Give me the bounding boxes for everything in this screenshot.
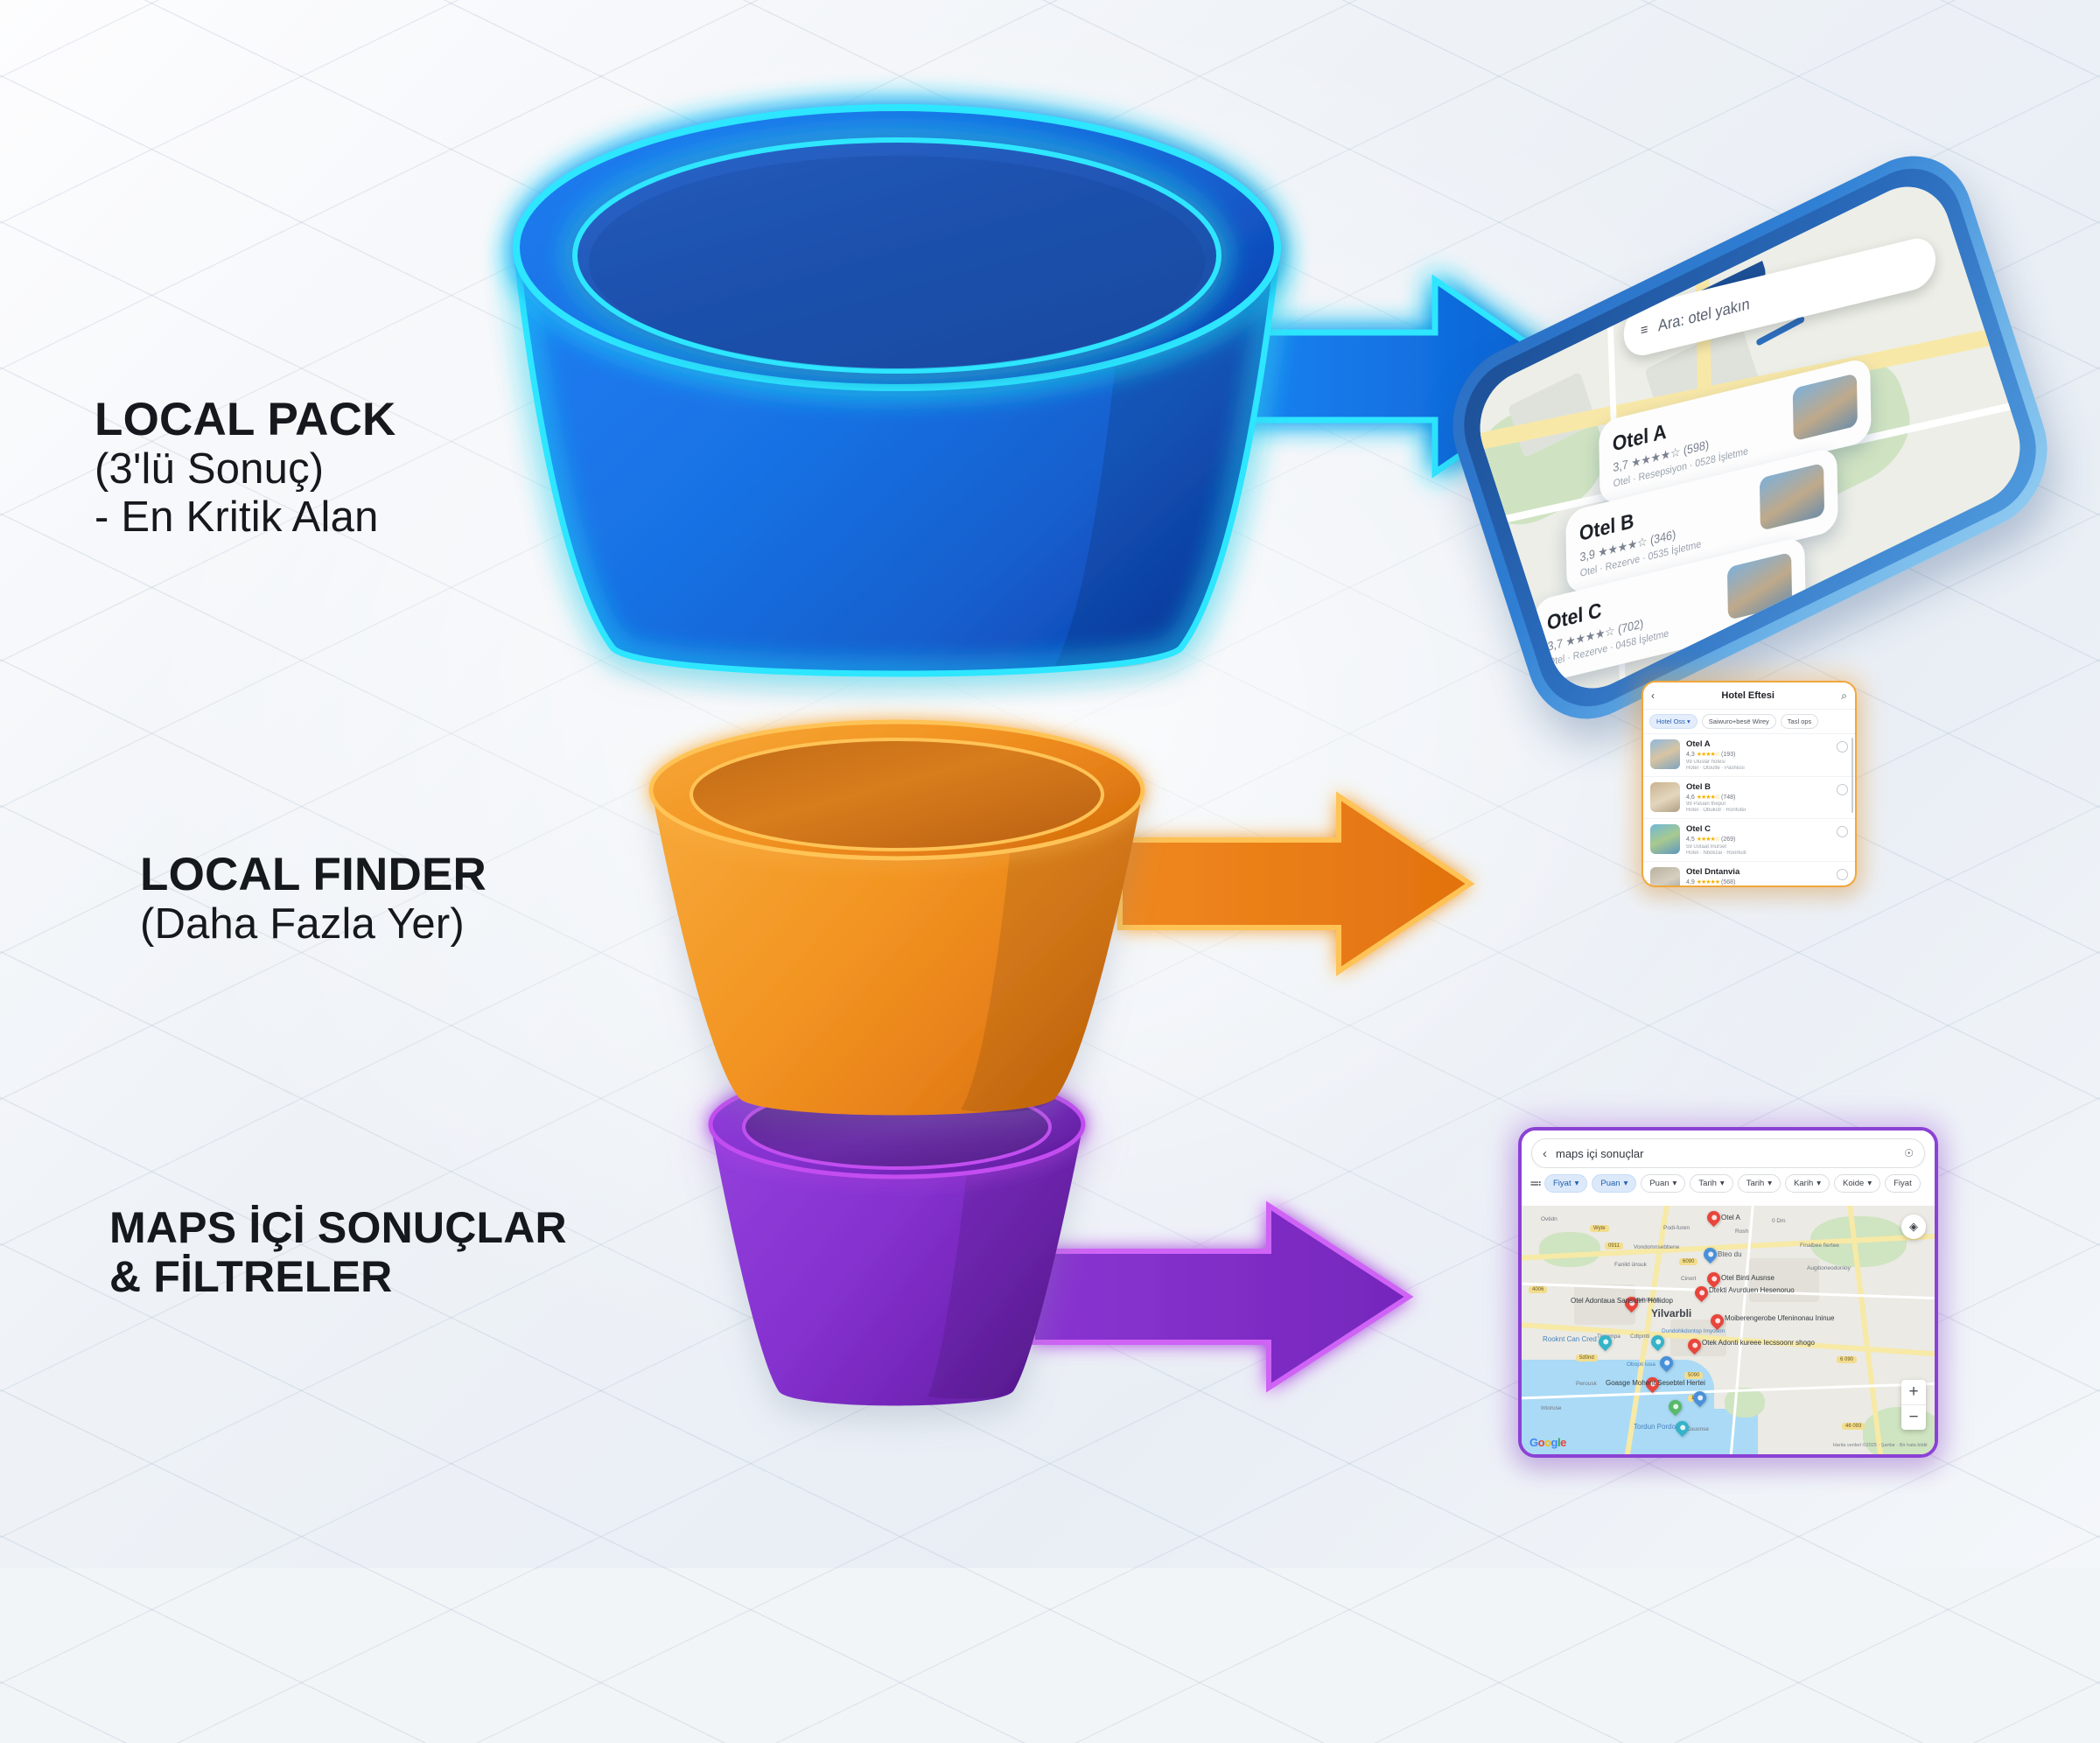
finder-item-text: Otel B 4,6 ★★★★☆ (748) 99 Pasian theput … — [1686, 782, 1830, 814]
finder-item-sub: 99 Obekte Himtei — [1686, 886, 1830, 887]
map-area-label: Intoruse — [1541, 1405, 1562, 1411]
label-local-pack-line1: LOCAL PACK — [94, 394, 396, 445]
maps-chip-0[interactable]: Fiyat▾ — [1544, 1174, 1587, 1193]
map-pin-label: Otel A — [1721, 1214, 1740, 1221]
map-pin-label: Tordun Pordoi — [1634, 1423, 1677, 1431]
map-area-label: Finalbee fiertee — [1800, 1242, 1839, 1249]
label-maps-results-line1: MAPS İÇİ SONUÇLAR — [109, 1203, 567, 1252]
label-local-finder-line2: (Daha Fazla Yer) — [140, 900, 486, 948]
finder-list-item[interactable]: Otel B 4,6 ★★★★☆ (748) 99 Pasian theput … — [1643, 777, 1855, 820]
map-badge: 6 090 — [1837, 1356, 1857, 1363]
label-local-pack: LOCAL PACK (3'lü Sonuç) - En Kritik Alan — [94, 394, 396, 542]
finder-item-name: Otel Dntanvia — [1686, 867, 1830, 877]
map-pin-icon[interactable] — [1704, 1208, 1723, 1227]
finder-item-name: Otel A — [1686, 739, 1830, 749]
map-green — [1725, 1388, 1765, 1417]
map-badge: 0911 — [1605, 1242, 1623, 1249]
maps-chip-3[interactable]: Tarih▾ — [1690, 1174, 1732, 1193]
finder-item-rating: 4,3 ★★★★☆ (193) — [1686, 751, 1830, 758]
finder-item-sub: 59 Uotaat Inurset — [1686, 844, 1830, 850]
map-zoom-out-button[interactable]: − — [1901, 1405, 1926, 1430]
label-local-finder-line1: LOCAL FINDER — [140, 849, 486, 900]
finder-item-name: Otel C — [1686, 824, 1830, 834]
map-zoom-controls: + − — [1901, 1380, 1926, 1430]
finder-thumbnail — [1650, 867, 1680, 888]
map-area-label: Perousk — [1576, 1381, 1597, 1387]
chevron-left-icon[interactable]: ‹ — [1651, 689, 1655, 702]
finder-item-text: Otel Dntanvia 4,9 ★★★★★ (568) 99 Obekte … — [1686, 867, 1830, 888]
finder-list-item[interactable]: Otel C 4,5 ★★★★☆ (269) 59 Uotaat Inurset… — [1643, 819, 1855, 862]
map-pin-label: Rooknt Can Cred — [1543, 1335, 1597, 1343]
finder-item-meta: Hotel · Obukstr · Ronfutei — [1686, 808, 1830, 813]
maps-chip-4[interactable]: Tarih▾ — [1738, 1174, 1781, 1193]
finder-chip-1[interactable]: Saiwuro+besë Wirey — [1702, 714, 1776, 729]
map-pin-icon[interactable] — [1692, 1284, 1711, 1302]
map-area-label: Ovtidn — [1541, 1216, 1557, 1222]
map-pin-label: Moiberengerobe Ufeninonau Ininue — [1725, 1314, 1834, 1322]
search-icon[interactable]: ⌕ — [1841, 689, 1847, 703]
map-badge: 5090 — [1684, 1372, 1703, 1379]
map-zoom-in-button[interactable]: + — [1901, 1380, 1926, 1405]
maps-filter-chips: ≕ Fiyat▾ Puan▾ Puan▾ Tarih▾ Tarih▾ Karih… — [1522, 1168, 1935, 1199]
tune-icon[interactable]: ≕ — [1529, 1176, 1540, 1191]
maps-search-bar[interactable]: ‹ maps içi sonuçlar ☉ — [1531, 1138, 1925, 1168]
google-logo: Google — [1529, 1436, 1566, 1449]
finder-results-list: Otel A 4,3 ★★★★☆ (193) 99 Uluslar hotesi… — [1643, 734, 1855, 887]
finder-title: Hotel Eftesi — [1721, 690, 1774, 701]
map-green — [1539, 1232, 1600, 1267]
maps-search-input[interactable]: maps içi sonuçlar — [1556, 1147, 1895, 1160]
map-area-label: Vondomnsebbene — [1634, 1244, 1679, 1250]
map-area-label: Podi-furen — [1663, 1225, 1690, 1231]
map-area-label: Cinort — [1681, 1276, 1696, 1282]
finder-item-sub: 99 Pasian theput — [1686, 801, 1830, 807]
directions-icon[interactable] — [1837, 741, 1848, 752]
phone-result-thumbnail — [1760, 463, 1824, 531]
map-area-label: Augitioneodonioy — [1807, 1265, 1851, 1271]
local-finder-panel: ‹ Hotel Eftesi ⌕ Hotel Oss ▾ Saiwuro+bes… — [1641, 681, 1857, 887]
map-area-label: Obopti lusa — [1627, 1361, 1655, 1368]
finder-list-item[interactable]: Otel A 4,3 ★★★★☆ (193) 99 Uluslar hotesi… — [1643, 734, 1855, 777]
map-attribution: Harita verileri ©2025 · Şartlar · Bir ha… — [1833, 1443, 1928, 1448]
chevron-down-icon: ▾ — [1673, 1179, 1677, 1188]
label-maps-results-line2: & FİLTRELER — [109, 1252, 567, 1301]
directions-icon[interactable] — [1837, 784, 1848, 795]
label-maps-results: MAPS İÇİ SONUÇLAR & FİLTRELER — [109, 1203, 567, 1301]
chevron-down-icon: ▾ — [1867, 1179, 1872, 1188]
maps-chip-1[interactable]: Puan▾ — [1592, 1174, 1636, 1193]
map-pin-label: Otel Adontaua Sansidim Holiidop — [1571, 1297, 1673, 1305]
maps-panel-top: ‹ maps içi sonuçlar ☉ — [1522, 1130, 1935, 1168]
finder-item-rating: 4,5 ★★★★☆ (269) — [1686, 836, 1830, 843]
map-area-label: Cdtpntti — [1630, 1333, 1649, 1340]
finder-item-meta: Hotel · Otoulte · Pashiusi — [1686, 766, 1830, 771]
finder-chip-2[interactable]: Tasl ops — [1781, 714, 1819, 729]
directions-icon[interactable] — [1837, 869, 1848, 880]
maps-chip-2[interactable]: Puan▾ — [1641, 1174, 1685, 1193]
layers-icon: ◈ — [1909, 1220, 1918, 1234]
map-area-label: Cuuonse — [1686, 1426, 1709, 1432]
finder-thumbnail — [1650, 782, 1680, 812]
maps-results-panel: ‹ maps içi sonuçlar ☉ ≕ Fiyat▾ Puan▾ Pua… — [1518, 1127, 1938, 1458]
finder-item-meta: Hotel · Nbokzai · Roorkuti — [1686, 850, 1830, 856]
maps-chip-6[interactable]: Koide▾ — [1834, 1174, 1880, 1193]
map-area-label: 0 Dm — [1772, 1218, 1786, 1224]
map-city-label: Yilvarbli — [1651, 1307, 1691, 1319]
maps-chip-7[interactable]: Fiyat — [1885, 1174, 1921, 1193]
chevron-down-icon: ▾ — [1816, 1179, 1821, 1188]
phone-result-thumbnail — [1793, 373, 1858, 441]
finder-item-rating: 4,6 ★★★★☆ (748) — [1686, 794, 1830, 801]
hamburger-icon: ≡ — [1641, 321, 1648, 339]
map-area-label: Dundohkdontop Imyoson — [1662, 1328, 1725, 1334]
finder-thumbnail — [1650, 824, 1680, 854]
map-pin-icon[interactable] — [1704, 1270, 1723, 1288]
map-badge: Wyte — [1590, 1225, 1609, 1232]
label-local-pack-line2: (3'lü Sonuç) — [94, 445, 396, 493]
phone-search-placeholder: Ara: otel yakın — [1658, 295, 1750, 336]
map-area-label: Rosh — [1735, 1228, 1748, 1235]
map-pin-label: Bteo du — [1718, 1250, 1742, 1258]
map-badge: 46 093 — [1842, 1423, 1865, 1430]
finder-item-name: Otel B — [1686, 782, 1830, 792]
finder-filter-chips: Hotel Oss ▾ Saiwuro+besë Wirey Tasl ops — [1643, 710, 1855, 734]
chevron-down-icon: ▾ — [1575, 1179, 1579, 1188]
map-area-label: Fanild ünsuk — [1614, 1262, 1647, 1268]
maps-chip-5[interactable]: Karih▾ — [1785, 1174, 1830, 1193]
map-layers-button[interactable]: ◈ — [1901, 1214, 1926, 1239]
chevron-left-icon[interactable]: ‹ — [1543, 1146, 1547, 1161]
map-badge: 5d0nd — [1576, 1354, 1598, 1361]
maps-map-canvas[interactable]: Wyte 0911 4006 6090 5090 11% 6 090 46 09… — [1522, 1206, 1935, 1454]
finder-chip-0[interactable]: Hotel Oss ▾ — [1649, 714, 1697, 729]
chevron-down-icon: ▾ — [1720, 1179, 1725, 1188]
map-badge: 4006 — [1529, 1286, 1547, 1293]
chevron-down-icon: ▾ — [1767, 1179, 1772, 1188]
finder-thumbnail — [1650, 739, 1680, 769]
map-badge: 6090 — [1679, 1258, 1697, 1265]
label-local-finder: LOCAL FINDER (Daha Fazla Yer) — [140, 849, 486, 948]
map-pin-label: Otek Adonti kureee Iecssoonr shogo — [1702, 1339, 1815, 1347]
label-local-pack-line3: - En Kritik Alan — [94, 493, 396, 542]
finder-list-item[interactable]: Otel Dntanvia 4,9 ★★★★★ (568) 99 Obekte … — [1643, 862, 1855, 888]
finder-item-text: Otel A 4,3 ★★★★☆ (193) 99 Uluslar hotesi… — [1686, 739, 1830, 771]
chevron-down-icon: ▾ — [1624, 1179, 1628, 1188]
finder-item-rating: 4,9 ★★★★★ (568) — [1686, 878, 1830, 885]
map-pin-label: Dtekti Avurduen Hesenoruo — [1709, 1286, 1795, 1294]
directions-icon[interactable] — [1837, 826, 1848, 837]
finder-item-text: Otel C 4,5 ★★★★☆ (269) 59 Uotaat Inurset… — [1686, 824, 1830, 856]
mic-icon[interactable]: ☉ — [1904, 1147, 1914, 1159]
map-pin-label: Otel Binti Ausnse — [1721, 1274, 1774, 1282]
map-pin-label: Goasge Mohent Sesebtel Hertei — [1606, 1379, 1705, 1387]
finder-item-sub: 99 Uluslar hotesi — [1686, 759, 1830, 765]
finder-header: ‹ Hotel Eftesi ⌕ — [1643, 682, 1855, 710]
finder-scrollbar[interactable] — [1851, 738, 1854, 813]
